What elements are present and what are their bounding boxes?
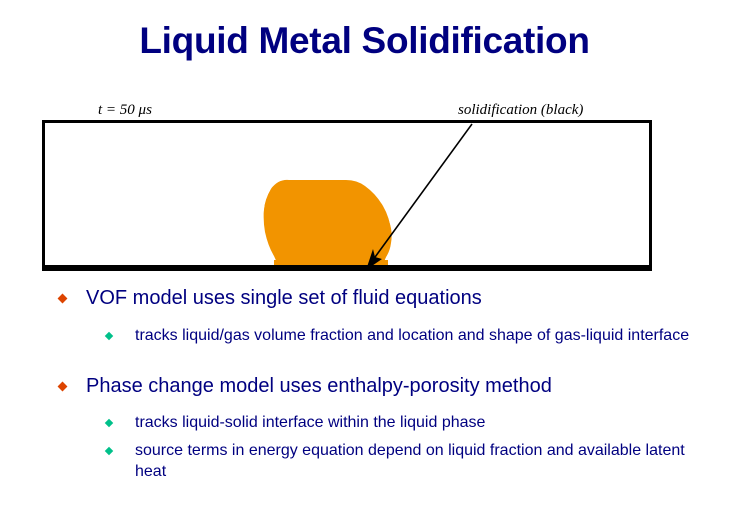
- bullet-text: VOF model uses single set of fluid equat…: [76, 285, 482, 311]
- bullet-text: source terms in energy equation depend o…: [121, 440, 705, 482]
- callout-leader-arrow: [340, 118, 500, 274]
- diamond-bullet-icon: [58, 285, 76, 311]
- diamond-bullet-icon: [105, 412, 121, 433]
- bullet-item-vof-model: VOF model uses single set of fluid equat…: [58, 285, 718, 311]
- simulation-figure: t = 50 μs solidification (black): [0, 0, 729, 285]
- bullet-text: tracks liquid/gas volume fraction and lo…: [121, 325, 689, 346]
- bullet-item-tracks-liquid-solid-interface: tracks liquid-solid interface within the…: [105, 412, 705, 433]
- solidification-callout-label: solidification (black): [458, 101, 583, 119]
- bullet-text: Phase change model uses enthalpy-porosit…: [76, 373, 552, 399]
- bullet-text: tracks liquid-solid interface within the…: [121, 412, 485, 433]
- presentation-slide: Liquid Metal Solidification t = 50 μs so…: [0, 0, 729, 510]
- time-label: t = 50 μs: [98, 101, 152, 119]
- bullet-item-phase-change-model: Phase change model uses enthalpy-porosit…: [58, 373, 718, 399]
- diamond-bullet-icon: [105, 325, 121, 346]
- diamond-bullet-icon: [58, 373, 76, 399]
- bullet-item-source-terms: source terms in energy equation depend o…: [105, 440, 705, 482]
- bullet-list: VOF model uses single set of fluid equat…: [0, 285, 729, 510]
- bullet-item-tracks-volume-fraction: tracks liquid/gas volume fraction and lo…: [105, 325, 705, 346]
- diamond-bullet-icon: [105, 440, 121, 461]
